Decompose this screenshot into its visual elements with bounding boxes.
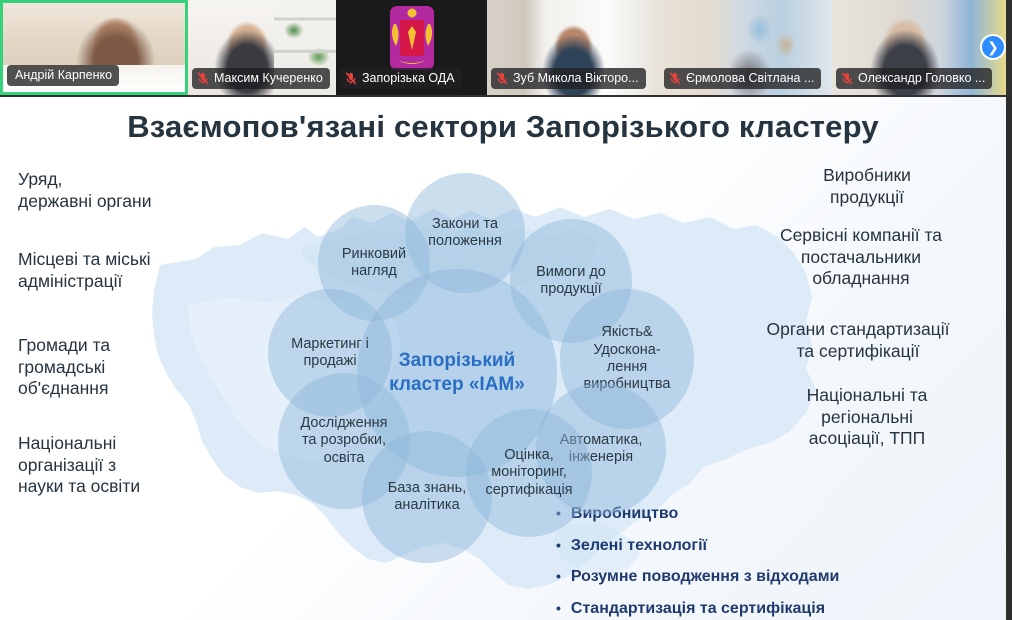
label-line: продукції — [742, 187, 992, 209]
focus-area-item: •Стандартизація та сертифікація — [556, 598, 996, 620]
participant-filmstrip: Андрій КарпенкоМаксим КучеренкоЗапорізьк… — [0, 0, 1012, 97]
participant-name: Андрій Карпенко — [15, 68, 112, 82]
next-page-button[interactable]: ❯ — [980, 34, 1006, 60]
label-line: Виробники — [742, 165, 992, 187]
label-line: об'єднання — [18, 378, 110, 400]
microphone-muted-icon — [496, 72, 508, 85]
cluster-circle-label: Маркетинг іпродажі — [291, 336, 369, 371]
participant-tile[interactable]: Запорізька ОДА — [336, 0, 487, 95]
bullet-marker-icon: • — [556, 566, 561, 586]
cluster-circle-market: Ринковийнагляд — [318, 205, 430, 321]
right-gutter — [1006, 97, 1012, 620]
participant-tile[interactable]: Максим Кучеренко — [188, 0, 336, 95]
focus-area-item: •Зелені технології — [556, 535, 996, 557]
label-line: постачальники — [730, 247, 992, 269]
label-line: державні органи — [18, 191, 151, 213]
label-line: громадські — [18, 357, 110, 379]
microphone-muted-icon — [345, 72, 357, 85]
participant-name: Запорізька ОДА — [362, 71, 455, 85]
microphone-muted-icon — [841, 72, 853, 85]
left-label-communities: Громади тагромадськіоб'єднання — [18, 335, 110, 400]
participant-tile[interactable]: Зуб Микола Вікторо... — [487, 0, 660, 95]
participant-name: Зуб Микола Вікторо... — [513, 71, 639, 85]
microphone-muted-icon — [197, 72, 209, 85]
bullet-marker-icon: • — [556, 535, 561, 555]
cluster-circle-label: Вимоги допродукції — [536, 264, 606, 299]
label-line: Уряд, — [18, 169, 151, 191]
participant-name-badge: Єрмолова Світлана ... — [664, 68, 821, 89]
microphone-muted-icon — [669, 72, 681, 85]
cluster-circle-label: Ринковийнагляд — [342, 246, 406, 281]
cluster-circle-label: База знань,аналітика — [388, 480, 466, 515]
label-line: Громади та — [18, 335, 110, 357]
label-line: обладнання — [730, 268, 992, 290]
participant-name-badge: Запорізька ОДА — [340, 68, 462, 89]
label-line: організації з — [18, 455, 140, 477]
label-line: адміністрації — [18, 271, 151, 293]
label-line: науки та освіти — [18, 476, 140, 498]
label-line: Місцеві та міські — [18, 249, 151, 271]
right-label-producers: Виробникипродукції — [742, 165, 992, 208]
focus-area-label: Зелені технології — [571, 535, 707, 557]
participant-name-badge: Максим Кучеренко — [192, 68, 330, 89]
participant-name: Максим Кучеренко — [214, 71, 323, 85]
participant-name-badge: Зуб Микола Вікторо... — [491, 68, 646, 89]
participant-name-badge: Андрій Карпенко — [7, 65, 119, 86]
participant-tile[interactable]: Єрмолова Світлана ... — [660, 0, 832, 95]
label-line: та сертифікації — [724, 341, 992, 363]
focus-area-label: Розумне поводження з відходами — [571, 566, 839, 588]
cluster-circle-label: Запорізькийкластер «ІАМ» — [389, 349, 525, 397]
label-line: Національні та — [742, 385, 992, 407]
cluster-circle-label: Оцінка,моніторинг,сертифікація — [485, 447, 572, 499]
participant-name-badge: Олександр Головко ... — [836, 68, 992, 89]
focus-areas-list: •Виробництво•Зелені технології•Розумне п… — [556, 503, 996, 620]
left-label-local-admin: Місцеві та міськіадміністрації — [18, 249, 151, 292]
label-line: асоціації, ТПП — [742, 428, 992, 450]
right-label-service-cos: Сервісні компанії тапостачальникиобладна… — [730, 225, 992, 290]
bullet-marker-icon: • — [556, 598, 561, 618]
participant-tile[interactable]: Андрій Карпенко — [0, 0, 188, 95]
label-line: регіональні — [742, 407, 992, 429]
participant-name: Олександр Головко ... — [858, 71, 985, 85]
focus-area-label: Стандартизація та сертифікація — [571, 598, 825, 620]
cluster-circle-label: Закони таположення — [428, 216, 502, 251]
cluster-circle-assessment: Оцінка,моніторинг,сертифікація — [466, 409, 592, 537]
participant-name: Єрмолова Світлана ... — [686, 71, 814, 85]
label-line: Органи стандартизації — [724, 319, 992, 341]
left-label-national-sci: Національніорганізації знауки та освіти — [18, 433, 140, 498]
zoom-screen-share-window: Андрій КарпенкоМаксим КучеренкоЗапорізьк… — [0, 0, 1012, 620]
label-line: Сервісні компанії та — [730, 225, 992, 247]
right-label-associations: Національні тарегіональніасоціації, ТПП — [742, 385, 992, 450]
focus-area-item: •Розумне поводження з відходами — [556, 566, 996, 588]
label-line: Національні — [18, 433, 140, 455]
shared-slide: Взаємопов'язані сектори Запорізького кла… — [0, 97, 1006, 620]
right-label-standards: Органи стандартизаціїта сертифікації — [724, 319, 992, 362]
left-label-government: Уряд,державні органи — [18, 169, 151, 212]
chevron-right-icon: ❯ — [987, 40, 999, 54]
